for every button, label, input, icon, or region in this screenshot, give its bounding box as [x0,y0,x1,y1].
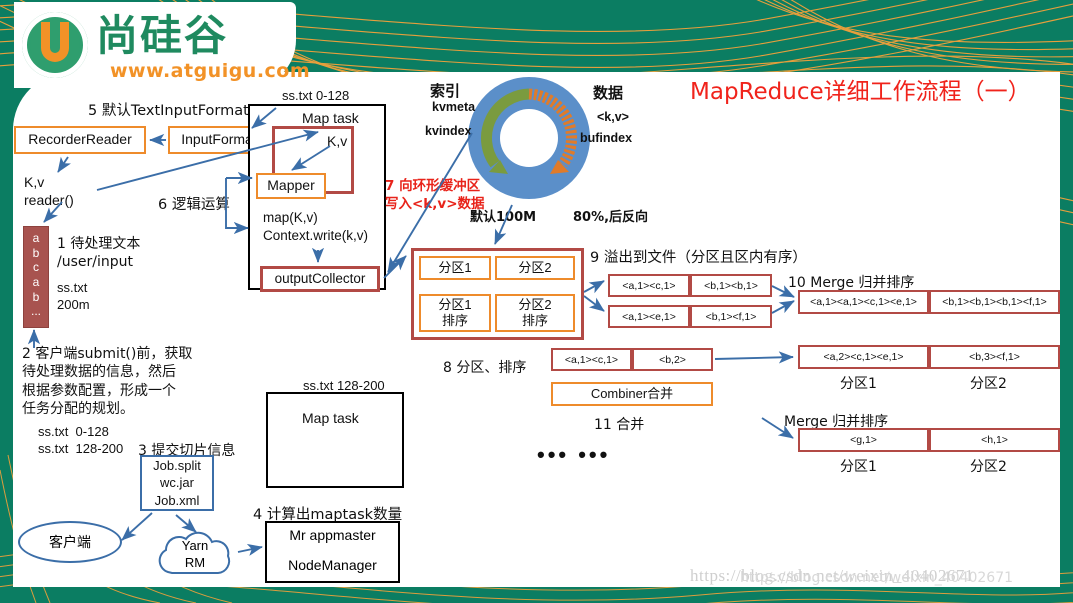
maptask2-file-label: ss.txt 128-200 [303,378,385,393]
slide-canvas: 尚硅谷 www.atguigu.com MapReduce详细工作流程（一） 5… [0,0,1073,603]
recorder-reader-box: RecorderReader [14,126,146,154]
partition-1-sorted-box: 分区1 排序 [419,294,491,332]
job-files-box: Job.split wc.jar Job.xml [140,455,214,511]
maptask1-title: Map task [302,110,359,126]
splits-label: ss.txt 0-128 ss.txt 128-200 [38,423,123,457]
spill-cell-0-1: <b,1><b,1> [690,274,772,297]
appmaster-box: Mr appmaster NodeManager [265,521,400,583]
result1-partition-1: 分区2 [970,373,1007,393]
maptask2-title: Map task [302,410,359,426]
merge-cell-1: <b,1><b,1><b,1><f,1> [929,290,1060,314]
combiner-box: Combiner合并 [551,382,713,406]
spill-cell-1-0: <a,1><e,1> [608,305,690,328]
partition-2-sorted-box: 分区2 排序 [495,294,575,332]
input-text-block: a b c a b ... [23,226,49,328]
output-collector-box: outputCollector [260,266,380,292]
logo-url: www.atguigu.com [110,60,310,82]
step10-label: 10 Merge 归并排序 [788,272,914,292]
merge-cell-0: <a,1><a,1><c,1><e,1> [798,290,929,314]
buffer-threshold-label: 80%,后反向 [573,206,648,225]
result1-cell-1: <b,3><f,1> [929,345,1060,369]
kv-reader-label: K,v reader() [24,173,74,210]
bufindex-label: bufindex [580,131,632,145]
appmaster-label: Mr appmaster [267,527,398,543]
combiner-input-cell-0: <a,1><c,1> [551,348,632,371]
yarn-rm-label: Yarn RM [160,534,230,576]
step1-label: 1 待处理文本 /user/input [57,235,140,272]
step9-label: 9 溢出到文件（分区且区内有序） [590,246,807,267]
client-ellipse: 客户端 [18,521,122,563]
buffer-size-label: 默认100M [470,206,536,225]
step2-label: 2 客户端submit()前，获取 待处理数据的信息，然后 根据参数配置，形成一… [22,345,192,419]
step8-label: 8 分区、排序 [443,357,526,377]
result1-cell-0: <a,2><c,1><e,1> [798,345,929,369]
result1-partition-0: 分区1 [840,373,877,393]
partition-1-box: 分区1 [419,256,491,280]
kvindex-label: kvindex [425,124,472,138]
buffer-index-label: 索引 [430,80,460,101]
logo-u-icon [37,20,73,68]
combiner-input-cell-1: <b,2> [632,348,713,371]
nodemanager-label: NodeManager [267,557,398,573]
watermark-overlay-text: https://blog.csdn.net/weixin_40402671 [740,570,1013,586]
circular-buffer-icon [467,76,591,200]
ellipsis-label: ••• ••• [537,442,610,468]
spill-cell-0-0: <a,1><c,1> [608,274,690,297]
kvmeta-label: kvmeta [432,100,475,114]
maptask1-kv-label: K,v [327,133,347,149]
step1-file-label: ss.txt 200m [57,279,90,313]
spill-cell-1-1: <b,1><f,1> [690,305,772,328]
maptask2-box [266,392,404,488]
partition-2-box: 分区2 [495,256,575,280]
result2-cell-1: <h,1> [929,428,1060,452]
step11-label: 11 合并 [594,414,644,434]
buffer-data-label: 数据 [593,82,623,103]
step5-label: 5 默认TextInputFormat [88,99,249,120]
result2-partition-0: 分区1 [840,456,877,476]
page-title: MapReduce详细工作流程（一） [690,72,1031,106]
mapper-box: Mapper [256,173,326,199]
step6-label: 6 逻辑运算 [158,193,230,214]
map-code-label: map(K,v) Context.write(k,v) [263,209,368,245]
maptask1-file-label: ss.txt 0-128 [282,88,349,103]
logo-name: 尚硅谷 [96,10,281,62]
buffer-kv-label: <k,v> [597,110,629,124]
result2-cell-0: <g,1> [798,428,929,452]
result2-partition-1: 分区2 [970,456,1007,476]
